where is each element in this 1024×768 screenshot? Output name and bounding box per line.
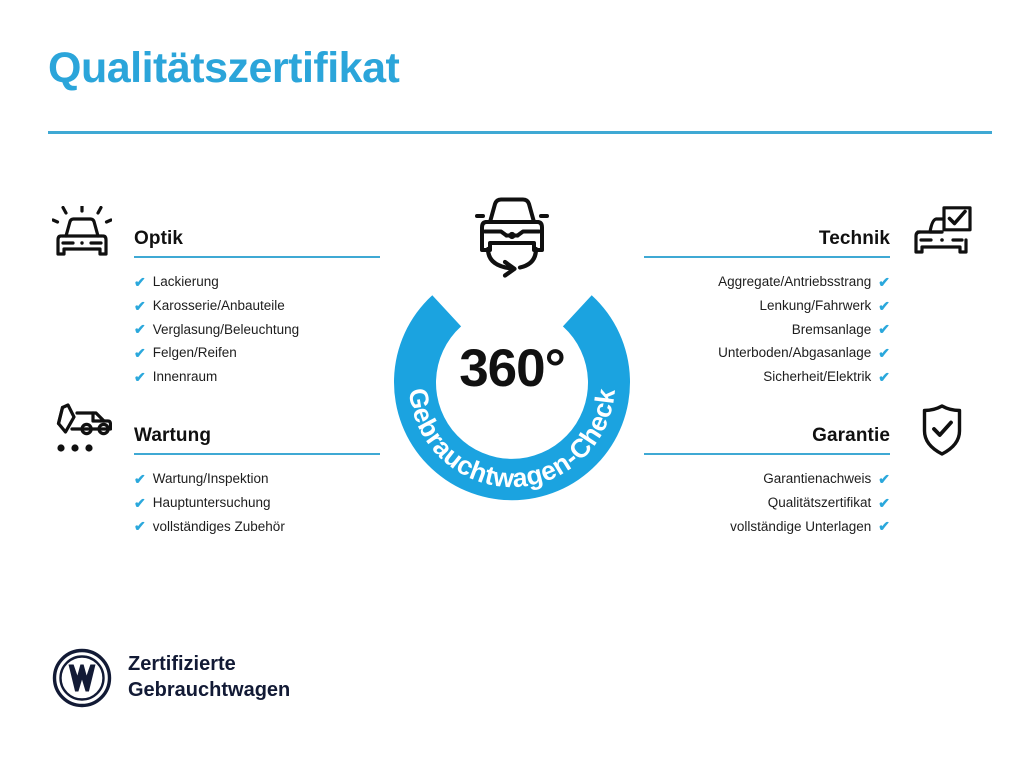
list-item: Qualitätszertifikat✔ xyxy=(644,491,890,515)
list-item-label: Wartung/Inspektion xyxy=(153,467,269,491)
list-item: ✔Felgen/Reifen xyxy=(134,341,380,365)
car-checkbox-icon xyxy=(912,206,972,260)
vw-certified-wordmark: Zertifizierte Gebrauchtwagen xyxy=(128,652,290,703)
vw-certified-footer: Zertifizierte Gebrauchtwagen xyxy=(52,648,290,708)
check-icon: ✔ xyxy=(878,519,890,533)
list-item-label: Lackierung xyxy=(153,270,219,294)
section-technik-header: Technik xyxy=(644,204,976,270)
car-front-rotate-icon xyxy=(464,190,560,282)
check-icon: ✔ xyxy=(134,346,146,360)
section-technik-title: Technik xyxy=(819,228,890,250)
section-garantie-header: Garantie xyxy=(644,401,976,467)
wartung-checklist: ✔Wartung/Inspektion ✔Hauptuntersuchung ✔… xyxy=(48,467,380,538)
check-icon: ✔ xyxy=(134,322,146,336)
section-garantie-underline xyxy=(644,453,890,455)
section-wartung-header: Wartung xyxy=(48,401,380,467)
list-item-label: Unterboden/Abgasanlage xyxy=(718,341,871,365)
check-icon: ✔ xyxy=(134,519,146,533)
list-item: ✔Wartung/Inspektion xyxy=(134,467,380,491)
section-technik: Technik Aggregate/Antriebsstrang✔ Lenkun… xyxy=(644,204,976,389)
list-item: ✔vollständiges Zubehör xyxy=(134,515,380,539)
check-icon: ✔ xyxy=(878,370,890,384)
list-item: ✔Innenraum xyxy=(134,365,380,389)
list-item-label: Lenkung/Fahrwerk xyxy=(759,294,871,318)
list-item-label: Hauptuntersuchung xyxy=(153,491,271,515)
section-optik-title: Optik xyxy=(134,228,183,250)
list-item: Aggregate/Antriebsstrang✔ xyxy=(644,270,890,294)
vw-logo xyxy=(52,648,112,708)
list-item-label: Felgen/Reifen xyxy=(153,341,237,365)
check-icon: ✔ xyxy=(134,472,146,486)
list-item-label: Garantienachweis xyxy=(763,467,871,491)
section-garantie-title: Garantie xyxy=(812,425,890,447)
check-icon: ✔ xyxy=(134,370,146,384)
list-item: ✔Karosserie/Anbauteile xyxy=(134,294,380,318)
section-technik-underline xyxy=(644,256,890,258)
list-item: Unterboden/Abgasanlage✔ xyxy=(644,341,890,365)
vw-wordmark-line-1: Zertifizierte xyxy=(128,652,290,678)
gebrauchtwagen-check-badge: Gebrauchtwagen-Check 360° xyxy=(380,252,644,516)
list-item: vollständige Unterlagen✔ xyxy=(644,515,890,539)
check-icon: ✔ xyxy=(878,322,890,336)
list-item-label: vollständiges Zubehör xyxy=(153,515,285,539)
section-optik-underline xyxy=(134,256,380,258)
section-garantie: Garantie Garantienachweis✔ Qualitätszert… xyxy=(644,401,976,538)
list-item: ✔Lackierung xyxy=(134,270,380,294)
check-icon: ✔ xyxy=(878,472,890,486)
check-icon: ✔ xyxy=(134,275,146,289)
list-item-label: Bremsanlage xyxy=(792,318,872,342)
section-wartung-title: Wartung xyxy=(134,425,211,447)
badge-360-label: 360° xyxy=(380,338,644,399)
page-title: Qualitätszertifikat xyxy=(48,46,399,91)
list-item-label: Verglasung/Beleuchtung xyxy=(153,318,299,342)
list-item-label: Innenraum xyxy=(153,365,218,389)
header-divider xyxy=(48,131,992,134)
check-icon: ✔ xyxy=(134,496,146,510)
list-item: Sicherheit/Elektrik✔ xyxy=(644,365,890,389)
list-item: Garantienachweis✔ xyxy=(644,467,890,491)
section-wartung-underline xyxy=(134,453,380,455)
check-icon: ✔ xyxy=(878,496,890,510)
check-icon: ✔ xyxy=(878,299,890,313)
shield-check-icon xyxy=(912,403,972,457)
list-item-label: Qualitätszertifikat xyxy=(768,491,872,515)
technik-checklist: Aggregate/Antriebsstrang✔ Lenkung/Fahrwe… xyxy=(644,270,976,389)
service-pen-car-icon xyxy=(52,403,112,457)
section-wartung: Wartung ✔Wartung/Inspektion ✔Hauptunters… xyxy=(48,401,380,538)
list-item-label: Sicherheit/Elektrik xyxy=(763,365,871,389)
list-item: Lenkung/Fahrwerk✔ xyxy=(644,294,890,318)
section-optik-header: Optik xyxy=(48,204,380,270)
check-icon: ✔ xyxy=(134,299,146,313)
section-optik: Optik ✔Lackierung ✔Karosserie/Anbauteile… xyxy=(48,204,380,389)
garantie-checklist: Garantienachweis✔ Qualitätszertifikat✔ v… xyxy=(644,467,976,538)
optik-checklist: ✔Lackierung ✔Karosserie/Anbauteile ✔Verg… xyxy=(48,270,380,389)
list-item-label: vollständige Unterlagen xyxy=(730,515,871,539)
check-icon: ✔ xyxy=(878,275,890,289)
car-polish-icon xyxy=(52,206,112,260)
check-icon: ✔ xyxy=(878,346,890,360)
list-item-label: Aggregate/Antriebsstrang xyxy=(718,270,871,294)
list-item: Bremsanlage✔ xyxy=(644,318,890,342)
list-item: ✔Verglasung/Beleuchtung xyxy=(134,318,380,342)
list-item: ✔Hauptuntersuchung xyxy=(134,491,380,515)
vw-wordmark-line-2: Gebrauchtwagen xyxy=(128,678,290,704)
list-item-label: Karosserie/Anbauteile xyxy=(153,294,285,318)
